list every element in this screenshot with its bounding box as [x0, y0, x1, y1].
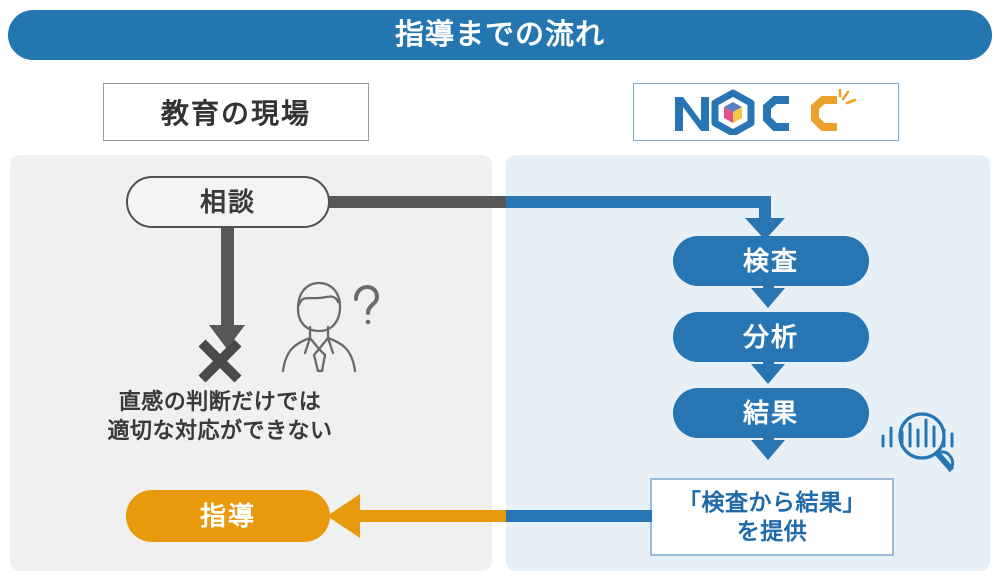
magnifier-bar-chart-icon	[878, 406, 970, 480]
nocc-logo-svg	[671, 89, 861, 135]
section-label-nocc	[633, 83, 899, 141]
connector-output-to-shidou-arrowhead	[327, 494, 360, 538]
header-banner: 指導までの流れ	[8, 10, 992, 60]
output-box-line-1: 「検査から結果」	[678, 488, 866, 517]
caption-line-1: 直感の判断だけでは	[40, 388, 400, 417]
output-box-text: 「検査から結果」 を提供	[678, 488, 866, 547]
logo-letter-n	[675, 97, 709, 131]
arrow-kekka-to-output-head	[751, 440, 785, 460]
caption-text: 直感の判断だけでは 適切な対応ができない	[40, 388, 400, 445]
pill-bunseki-label: 分析	[743, 324, 799, 350]
pill-kensa: 検査	[673, 236, 869, 286]
arrow-kensa-to-bunseki-head	[751, 288, 785, 308]
logo-cube-icon	[724, 102, 742, 123]
connector-soudan-to-kensa-gray	[328, 196, 506, 208]
pill-shidou-label: 指導	[200, 503, 256, 529]
caption-line-2: 適切な対応ができない	[40, 417, 400, 446]
pill-soudan-label: 相談	[200, 189, 256, 215]
pill-bunseki: 分析	[673, 312, 869, 362]
person-question-icon	[272, 277, 382, 373]
logo-sparkle-icon	[840, 90, 855, 103]
down-arrow-stem	[221, 228, 234, 331]
logo-letter-c-blue	[767, 100, 789, 127]
nocc-logo	[671, 89, 861, 135]
pill-kekka: 結果	[673, 388, 869, 438]
section-label-education-text: 教育の現場	[161, 92, 311, 132]
arrow-bunseki-to-kekka-head	[751, 364, 785, 384]
section-label-education: 教育の現場	[103, 83, 369, 141]
logo-letter-c-orange	[815, 100, 837, 127]
output-box-line-2: を提供	[678, 517, 866, 546]
connector-output-to-shidou-blue	[506, 510, 652, 522]
connector-output-to-shidou-orange	[359, 510, 506, 522]
page-title: 指導までの流れ	[395, 21, 605, 50]
pill-soudan: 相談	[126, 176, 330, 228]
x-mark-icon	[197, 338, 243, 384]
pill-shidou: 指導	[126, 490, 330, 542]
pill-kekka-label: 結果	[743, 400, 799, 426]
diagram-canvas: 指導までの流れ 教育の現場	[0, 0, 1000, 583]
connector-soudan-to-kensa-blue-horizontal	[506, 196, 771, 208]
connector-soudan-to-kensa-blue-vertical	[759, 196, 771, 220]
pill-kensa-label: 検査	[743, 248, 799, 274]
output-box: 「検査から結果」 を提供	[650, 478, 894, 556]
